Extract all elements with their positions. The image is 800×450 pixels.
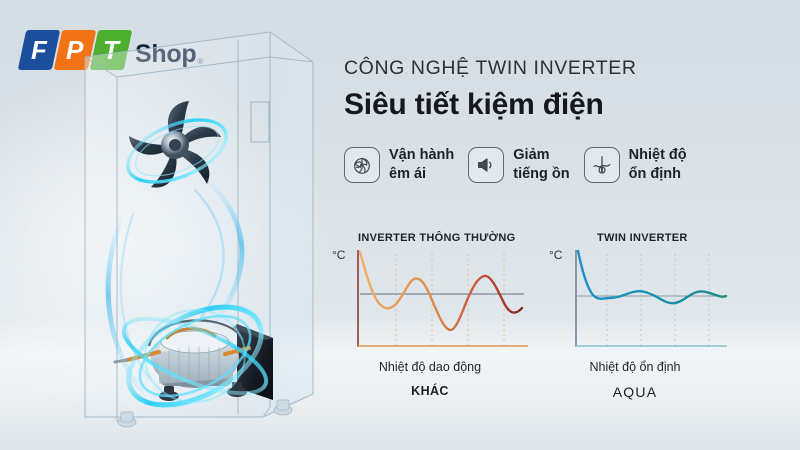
poster-stage: F P T Shop ®: [0, 0, 800, 450]
chart-caption: Nhiệt độ ổn định: [535, 360, 735, 374]
chart-y-unit: °C: [549, 248, 562, 262]
chart-title: INVERTER THÔNG THƯỜNG: [358, 232, 515, 244]
chart-gridlines: [396, 254, 504, 346]
chart-brand-label: KHÁC: [330, 384, 530, 398]
aqua-wordmark: AQUA: [613, 384, 657, 400]
feature-line2: ổn định: [629, 165, 687, 184]
chart-line: [360, 252, 522, 330]
chart-gridlines: [607, 254, 709, 346]
chart-title: TWIN INVERTER: [597, 232, 688, 244]
page-title: Siêu tiết kiệm điện: [344, 88, 604, 122]
feature-label-quiet-operation: Vận hành êm ái: [389, 146, 454, 183]
aqua-logo: AQUA: [613, 384, 657, 400]
feature-line2: tiếng ồn: [513, 165, 569, 184]
page-kicker: CÔNG NGHỆ TWIN INVERTER: [344, 57, 637, 80]
chart-plot-area: [352, 246, 530, 358]
comparison-charts: INVERTER THÔNG THƯỜNG °C: [330, 232, 740, 417]
refrigerator-illustration: [55, 22, 345, 437]
feature-line1: Giảm: [513, 146, 569, 165]
feature-item-noise-reduction: Giảm tiếng ồn: [468, 146, 569, 183]
feature-item-quiet-operation: Vận hành êm ái: [344, 146, 454, 183]
feature-label-stable-temperature: Nhiệt độ ổn định: [629, 146, 687, 183]
feature-line1: Nhiệt độ: [629, 146, 687, 165]
chart-twin-inverter: TWIN INVERTER °C: [535, 232, 735, 417]
chart-y-unit: °C: [332, 248, 345, 262]
fan-ball-icon: [344, 147, 380, 183]
chart-line: [578, 251, 726, 303]
thermometer-icon: [584, 147, 620, 183]
feature-line1: Vận hành: [389, 146, 454, 165]
feature-list: Vận hành êm ái Giảm tiếng ồn: [344, 146, 687, 183]
chart-brand-label: AQUA: [535, 384, 735, 400]
chart-caption: Nhiệt độ dao động: [330, 360, 530, 374]
chart-conventional-inverter: INVERTER THÔNG THƯỜNG °C: [330, 232, 530, 417]
speaker-icon: [468, 147, 504, 183]
feature-item-stable-temperature: Nhiệt độ ổn định: [584, 146, 687, 183]
feature-line2: êm ái: [389, 165, 454, 184]
chart-plot-area: [569, 246, 729, 358]
feature-label-noise-reduction: Giảm tiếng ồn: [513, 146, 569, 183]
